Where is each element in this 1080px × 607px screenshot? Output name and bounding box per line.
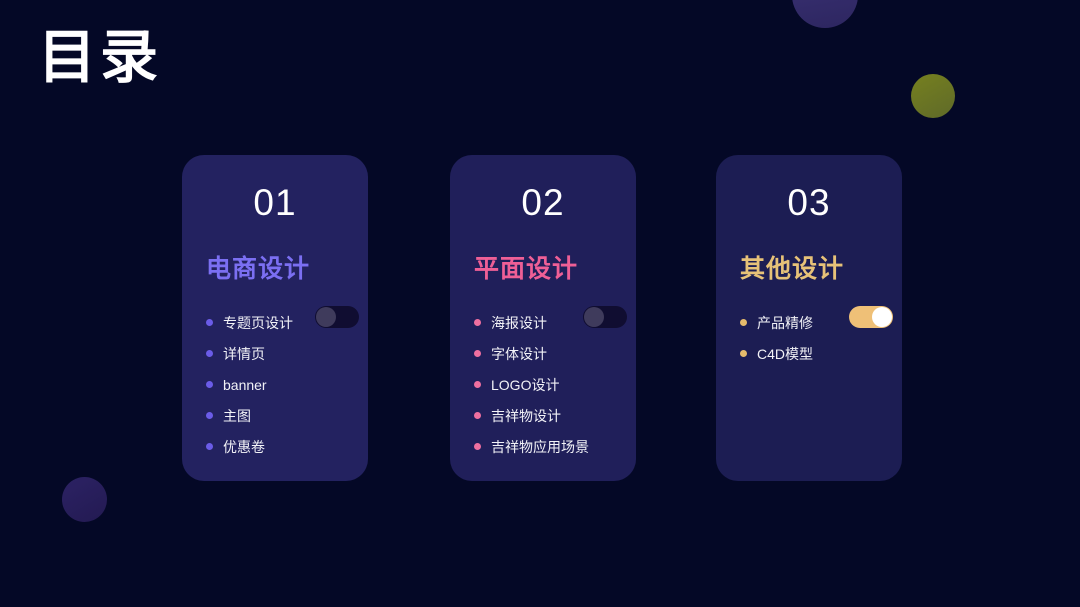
presentation-slide: 目录 01 电商设计 专题页设计 详情页 banner bbox=[0, 0, 1080, 607]
bullet-icon bbox=[474, 319, 481, 326]
card-number: 02 bbox=[450, 182, 636, 224]
list-item-label: 产品精修 bbox=[757, 313, 813, 333]
bullet-icon bbox=[474, 350, 481, 357]
bullet-icon bbox=[740, 319, 747, 326]
list-item[interactable]: banner bbox=[206, 369, 358, 400]
list-item[interactable]: 主图 bbox=[206, 400, 358, 431]
toggle-switch-card-01[interactable] bbox=[315, 306, 359, 328]
bullet-icon bbox=[206, 350, 213, 357]
bullet-icon bbox=[474, 443, 481, 450]
bullet-icon bbox=[206, 443, 213, 450]
list-item[interactable]: LOGO设计 bbox=[474, 369, 626, 400]
toggle-switch-card-02[interactable] bbox=[583, 306, 627, 328]
list-item-label: 海报设计 bbox=[491, 313, 547, 333]
card-number: 03 bbox=[716, 182, 902, 224]
list-item-label: 字体设计 bbox=[491, 344, 547, 364]
list-item[interactable]: 字体设计 bbox=[474, 338, 626, 369]
card-group: 01 电商设计 专题页设计 详情页 banner 主图 bbox=[0, 0, 1080, 607]
list-item[interactable]: 详情页 bbox=[206, 338, 358, 369]
bullet-icon bbox=[474, 381, 481, 388]
toggle-knob-icon bbox=[872, 307, 892, 327]
bullet-icon bbox=[740, 350, 747, 357]
list-item[interactable]: 优惠卷 bbox=[206, 431, 358, 462]
list-item-label: 主图 bbox=[223, 406, 251, 426]
list-item-label: C4D模型 bbox=[757, 344, 813, 364]
bullet-icon bbox=[474, 412, 481, 419]
toggle-knob-icon bbox=[316, 307, 336, 327]
card-heading: 平面设计 bbox=[474, 249, 578, 285]
bullet-icon bbox=[206, 381, 213, 388]
toggle-switch-card-03[interactable] bbox=[849, 306, 893, 328]
list-item-label: 吉祥物设计 bbox=[491, 406, 561, 426]
bullet-icon bbox=[206, 412, 213, 419]
list-item-label: 优惠卷 bbox=[223, 437, 265, 457]
card-number: 01 bbox=[182, 182, 368, 224]
card-item-list: 海报设计 字体设计 LOGO设计 吉祥物设计 吉祥物应用场景 bbox=[474, 307, 626, 462]
bullet-icon bbox=[206, 319, 213, 326]
card-heading: 电商设计 bbox=[206, 249, 310, 285]
list-item-label: 专题页设计 bbox=[223, 313, 293, 333]
list-item-label: 详情页 bbox=[223, 344, 265, 364]
card-item-list: 专题页设计 详情页 banner 主图 优惠卷 bbox=[206, 307, 358, 462]
list-item-label: LOGO设计 bbox=[491, 375, 559, 395]
card-heading: 其他设计 bbox=[740, 249, 844, 285]
toggle-knob-icon bbox=[584, 307, 604, 327]
list-item[interactable]: 吉祥物设计 bbox=[474, 400, 626, 431]
list-item[interactable]: C4D模型 bbox=[740, 338, 892, 369]
list-item[interactable]: 吉祥物应用场景 bbox=[474, 431, 626, 462]
list-item-label: banner bbox=[223, 377, 267, 393]
list-item-label: 吉祥物应用场景 bbox=[491, 437, 589, 457]
